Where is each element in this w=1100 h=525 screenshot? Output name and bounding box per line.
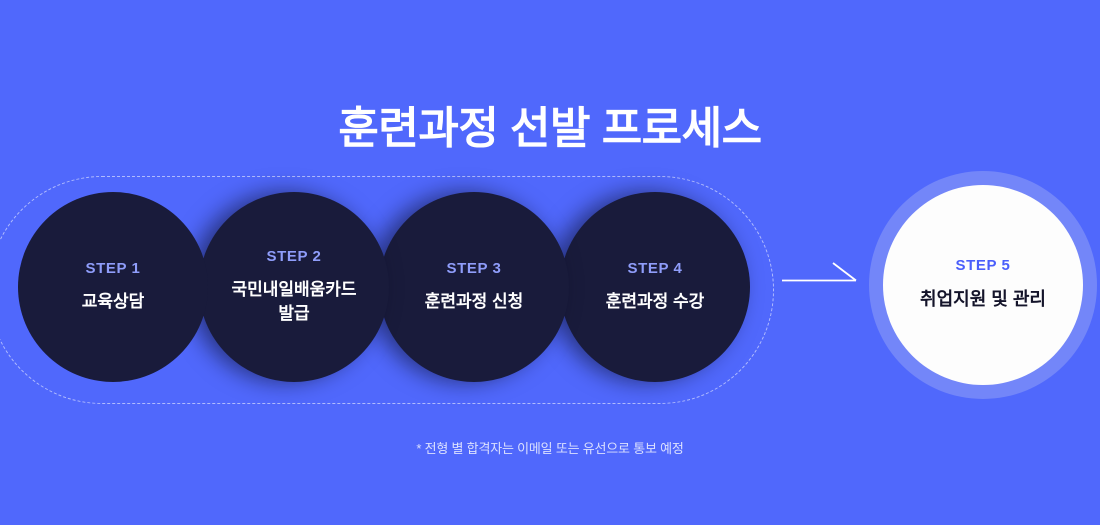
process-step-5-ring: STEP 5 취업지원 및 관리 (869, 171, 1097, 399)
step-5-label: STEP 5 (955, 257, 1010, 274)
step-5-text: 취업지원 및 관리 (920, 287, 1046, 312)
process-step-1: STEP 1 교육상담 (18, 192, 208, 382)
page-title: 훈련과정 선발 프로세스 (0, 103, 1100, 156)
arrow-right-icon (778, 255, 864, 295)
step-4-label: STEP 4 (627, 260, 682, 277)
process-step-4: STEP 4 훈련과정 수강 (560, 192, 750, 382)
process-step-3: STEP 3 훈련과정 신청 (379, 192, 569, 382)
process-step-2: STEP 2 국민내일배움카드 발급 (199, 192, 389, 382)
step-4-text: 훈련과정 수강 (596, 290, 715, 314)
process-step-5: STEP 5 취업지원 및 관리 (883, 185, 1083, 385)
step-2-text: 국민내일배움카드 발급 (221, 278, 366, 326)
process-infographic: 훈련과정 선발 프로세스 STEP 1 교육상담 STEP 2 국민내일배움카드… (0, 0, 1100, 525)
step-2-label: STEP 2 (266, 248, 321, 265)
step-3-text: 훈련과정 신청 (415, 290, 534, 314)
step-1-label: STEP 1 (85, 260, 140, 277)
step-3-label: STEP 3 (446, 260, 501, 277)
step-1-text: 교육상담 (72, 290, 155, 314)
footnote-text: * 전형 별 합격자는 이메일 또는 유선으로 통보 예정 (0, 438, 1100, 457)
